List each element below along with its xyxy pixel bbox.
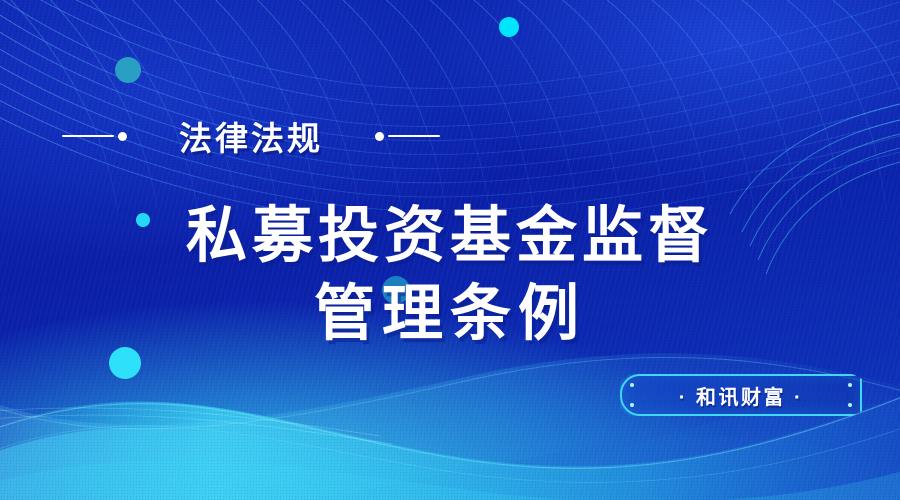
main-title-line-2: 管理条例 [0,274,900,352]
subtitle-row: 法律法规 [62,112,440,160]
main-title-line-1: 私募投资基金监督 [0,196,900,274]
decorative-bar-left [62,135,114,137]
brand-badge[interactable]: · 和讯财富 · [620,374,862,416]
badge-corner-bottom-left [630,403,634,407]
subtitle-text: 法律法规 [179,112,323,160]
decorative-bar-right [388,135,440,137]
badge-label: · 和讯财富 · [679,381,803,410]
decorative-dot-left [118,132,127,141]
promotional-banner: 法律法规 私募投资基金监督 管理条例 · 和讯财富 · [0,0,900,500]
badge-corner-bottom-right [848,403,852,407]
cyan-dot-top-center [499,17,519,37]
badge-corner-top-right [848,383,852,387]
decorative-line-left [62,132,127,141]
badge-corner-top-left [630,383,634,387]
decorative-line-right [375,132,440,141]
decorative-dot-right [375,132,384,141]
main-title: 私募投资基金监督 管理条例 [0,196,900,352]
teal-dot-upper-left [115,57,141,83]
